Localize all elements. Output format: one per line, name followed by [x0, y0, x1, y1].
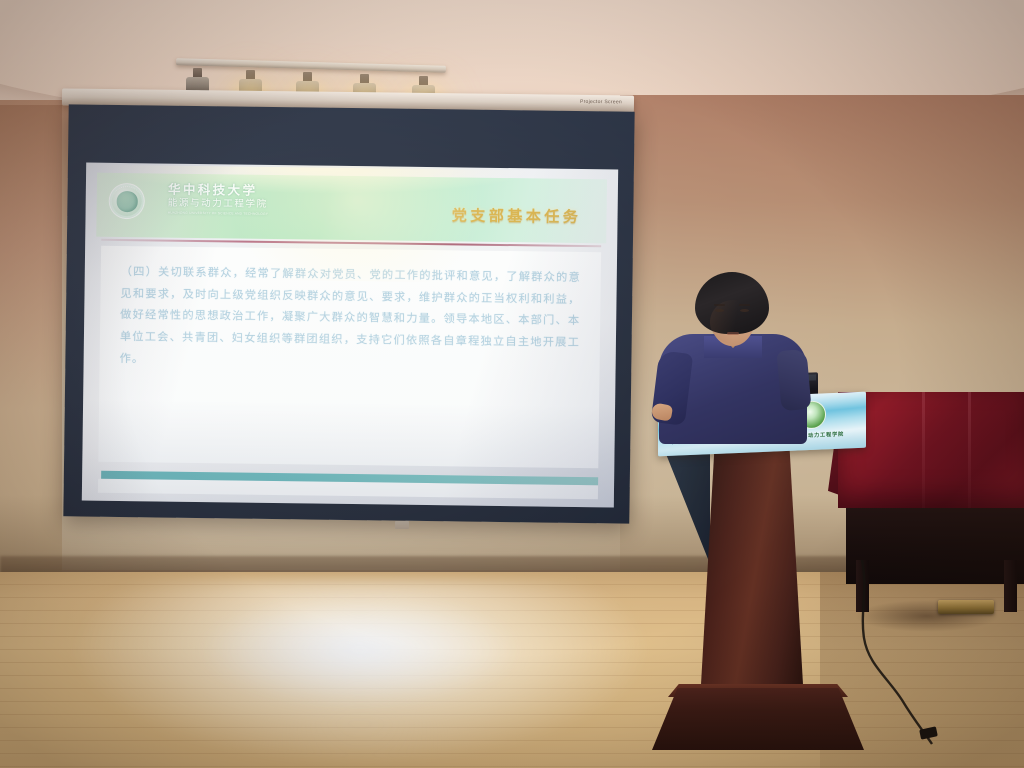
presenter-brow-left	[714, 304, 725, 306]
screen-case-label: Projector Screen	[580, 99, 622, 106]
cloth-fold-a	[922, 392, 925, 508]
slide-header-band: 华中科技大学 能源与动力工程学院 HUAZHONG UNIVERSITY OF …	[96, 173, 608, 244]
slide-paragraph: （四）关切联系群众，经常了解群众对党员、党的工作的批评和意见，了解群众的意见和要…	[119, 262, 580, 377]
presentation-slide: 华中科技大学 能源与动力工程学院 HUAZHONG UNIVERSITY OF …	[82, 163, 618, 508]
globe-icon	[116, 191, 138, 212]
university-name-en: HUAZHONG UNIVERSITY OF SCIENCE AND TECHN…	[168, 212, 268, 217]
university-seal-globe-icon	[109, 183, 145, 219]
podium-base	[652, 688, 864, 750]
presenter-mouth	[727, 332, 739, 335]
piano-pedal-icon	[938, 600, 994, 614]
piano-leg-left	[856, 560, 869, 612]
slide-title: 党支部基本任务	[452, 204, 582, 227]
presenter-arm-right	[776, 349, 811, 411]
presenter-brow-right	[739, 304, 750, 306]
presenter-face-shadow	[710, 300, 756, 344]
podium-column	[700, 446, 804, 702]
wall-outlet-icon	[395, 521, 409, 529]
projector-floor-reflection-core	[140, 600, 580, 750]
piano-body	[846, 498, 1024, 584]
piano-leg-right	[1004, 560, 1017, 612]
projector-screen-surface: 华中科技大学 能源与动力工程学院 HUAZHONG UNIVERSITY OF …	[82, 163, 618, 508]
slide-body: （四）关切联系群众，经常了解群众对党员、党的工作的批评和意见，了解群众的意见和要…	[98, 246, 601, 469]
school-name-cn: 能源与动力工程学院	[168, 199, 269, 211]
lecture-hall-photo: Projector Screen 华中科技大学 能源与动力工程学院 HUAZHO…	[0, 0, 1024, 768]
organization-names: 华中科技大学 能源与动力工程学院 HUAZHONG UNIVERSITY OF …	[168, 183, 269, 217]
cloth-fold-b	[968, 392, 971, 508]
university-name-cn: 华中科技大学	[168, 183, 269, 199]
